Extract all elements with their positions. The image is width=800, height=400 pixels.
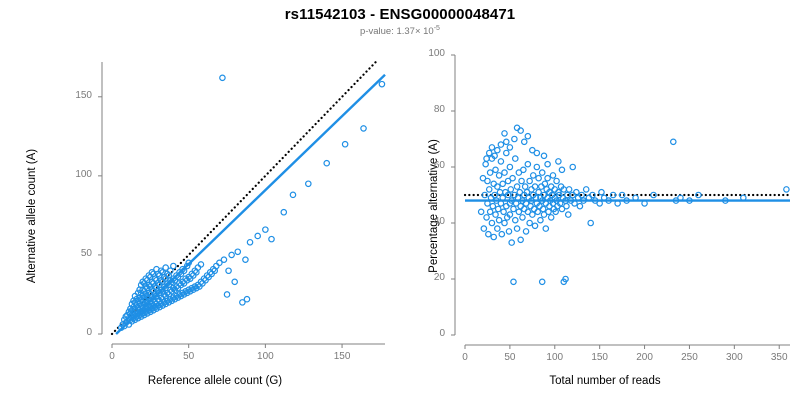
x-tick-label: 150 <box>317 351 367 362</box>
data-point <box>493 212 498 217</box>
data-point <box>527 220 532 225</box>
data-point <box>221 257 226 262</box>
data-point <box>540 170 545 175</box>
data-point <box>491 234 496 239</box>
data-point <box>519 178 524 183</box>
data-point <box>511 206 516 211</box>
data-point <box>498 142 503 147</box>
y-tick-label: 80 <box>393 104 445 115</box>
data-point <box>220 75 225 80</box>
data-point <box>342 142 347 147</box>
data-point <box>546 209 551 214</box>
data-point <box>235 249 240 254</box>
data-point <box>487 187 492 192</box>
data-point <box>229 252 234 257</box>
y-tick-label: 100 <box>393 48 445 59</box>
data-point <box>232 279 237 284</box>
data-point <box>564 204 569 209</box>
data-point <box>499 232 504 237</box>
data-point <box>485 178 490 183</box>
data-points-group <box>478 125 789 284</box>
data-point <box>566 187 571 192</box>
data-point <box>523 229 528 234</box>
data-point <box>502 131 507 136</box>
right-x-axis-title: Total number of reads <box>440 375 770 387</box>
data-point <box>514 226 519 231</box>
y-tick-label: 50 <box>40 248 92 259</box>
data-point <box>532 223 537 228</box>
y-tick-label: 40 <box>393 216 445 227</box>
data-point <box>525 162 530 167</box>
data-point <box>281 210 286 215</box>
data-point <box>501 209 506 214</box>
data-point <box>502 220 507 225</box>
data-point <box>255 233 260 238</box>
data-point <box>784 187 789 192</box>
data-point <box>534 150 539 155</box>
x-tick-label: 100 <box>240 351 290 362</box>
data-point <box>484 156 489 161</box>
percentage-alternative-scatter-panel: Percentage alternative (A) Total number … <box>400 0 800 400</box>
data-point <box>507 164 512 169</box>
data-point <box>483 162 488 167</box>
data-point <box>541 153 546 158</box>
data-point <box>487 209 492 214</box>
data-point <box>504 150 509 155</box>
data-point <box>545 176 550 181</box>
data-point <box>525 134 530 139</box>
x-tick-label: 50 <box>164 351 214 362</box>
allele-count-scatter-panel: Alternative allele count (A) Reference a… <box>0 0 400 400</box>
data-point <box>522 184 527 189</box>
plot-page: rs11542103 - ENSG00000048471 p-value: 1.… <box>0 0 800 400</box>
x-tick-label: 100 <box>530 352 580 363</box>
data-point <box>559 167 564 172</box>
data-point <box>543 226 548 231</box>
data-point <box>498 159 503 164</box>
data-point <box>588 220 593 225</box>
data-point <box>306 181 311 186</box>
data-point <box>671 139 676 144</box>
data-point <box>548 215 553 220</box>
data-point <box>486 232 491 237</box>
data-point <box>512 136 517 141</box>
x-tick-label: 0 <box>440 352 490 363</box>
data-point <box>500 181 505 186</box>
left-x-axis-title: Reference allele count (G) <box>70 375 360 387</box>
data-point <box>534 164 539 169</box>
data-point <box>514 184 519 189</box>
data-point <box>290 192 295 197</box>
data-point <box>530 212 535 217</box>
data-point <box>478 209 483 214</box>
data-point <box>518 237 523 242</box>
data-point <box>493 167 498 172</box>
data-point <box>521 167 526 172</box>
data-point <box>489 220 494 225</box>
data-point <box>496 173 501 178</box>
y-tick-label: 100 <box>40 169 92 180</box>
x-tick-label: 150 <box>575 352 625 363</box>
data-point <box>487 150 492 155</box>
data-point <box>513 156 518 161</box>
data-point <box>510 176 515 181</box>
data-point <box>243 257 248 262</box>
data-point <box>508 187 513 192</box>
data-point <box>226 268 231 273</box>
data-point <box>506 229 511 234</box>
data-point <box>361 126 366 131</box>
data-point <box>584 187 589 192</box>
data-point <box>520 215 525 220</box>
data-point <box>487 170 492 175</box>
data-point <box>269 236 274 241</box>
data-point <box>540 279 545 284</box>
y-tick-label: 60 <box>393 160 445 171</box>
data-point <box>516 209 521 214</box>
x-tick-label: 300 <box>709 352 759 363</box>
y-tick-label: 0 <box>393 328 445 339</box>
data-point <box>522 139 527 144</box>
regression-line <box>116 75 385 334</box>
data-point <box>536 176 541 181</box>
x-tick-label: 200 <box>620 352 670 363</box>
data-point <box>224 292 229 297</box>
data-point <box>490 204 495 209</box>
data-point <box>495 148 500 153</box>
y-tick-label: 20 <box>393 272 445 283</box>
data-point <box>511 279 516 284</box>
data-point <box>538 218 543 223</box>
data-point <box>531 173 536 178</box>
data-point <box>599 190 604 195</box>
x-tick-label: 250 <box>664 352 714 363</box>
data-point <box>550 173 555 178</box>
data-point <box>556 159 561 164</box>
allele-count-plot-svg <box>0 0 400 400</box>
data-point <box>489 145 494 150</box>
data-point <box>509 240 514 245</box>
data-point <box>244 297 249 302</box>
data-point <box>496 206 501 211</box>
data-point <box>198 262 203 267</box>
x-tick-label: 0 <box>87 351 137 362</box>
data-point <box>566 212 571 217</box>
data-point <box>171 263 176 268</box>
data-point <box>481 226 486 231</box>
data-point <box>495 226 500 231</box>
y-tick-label: 0 <box>40 327 92 338</box>
data-point <box>496 218 501 223</box>
data-point <box>247 240 252 245</box>
data-point <box>570 164 575 169</box>
data-point <box>507 145 512 150</box>
y-tick-label: 150 <box>40 90 92 101</box>
data-point <box>504 139 509 144</box>
percentage-plot-svg <box>400 0 800 400</box>
data-point <box>484 215 489 220</box>
x-tick-label: 350 <box>754 352 800 363</box>
data-point <box>545 162 550 167</box>
data-point <box>577 204 582 209</box>
data-point <box>502 170 507 175</box>
data-point <box>263 227 268 232</box>
x-tick-label: 50 <box>485 352 535 363</box>
left-y-axis-title: Alternative allele count (A) <box>26 116 38 316</box>
data-point <box>324 161 329 166</box>
data-point <box>554 178 559 183</box>
data-point <box>379 81 384 86</box>
data-point <box>527 178 532 183</box>
data-point <box>513 218 518 223</box>
